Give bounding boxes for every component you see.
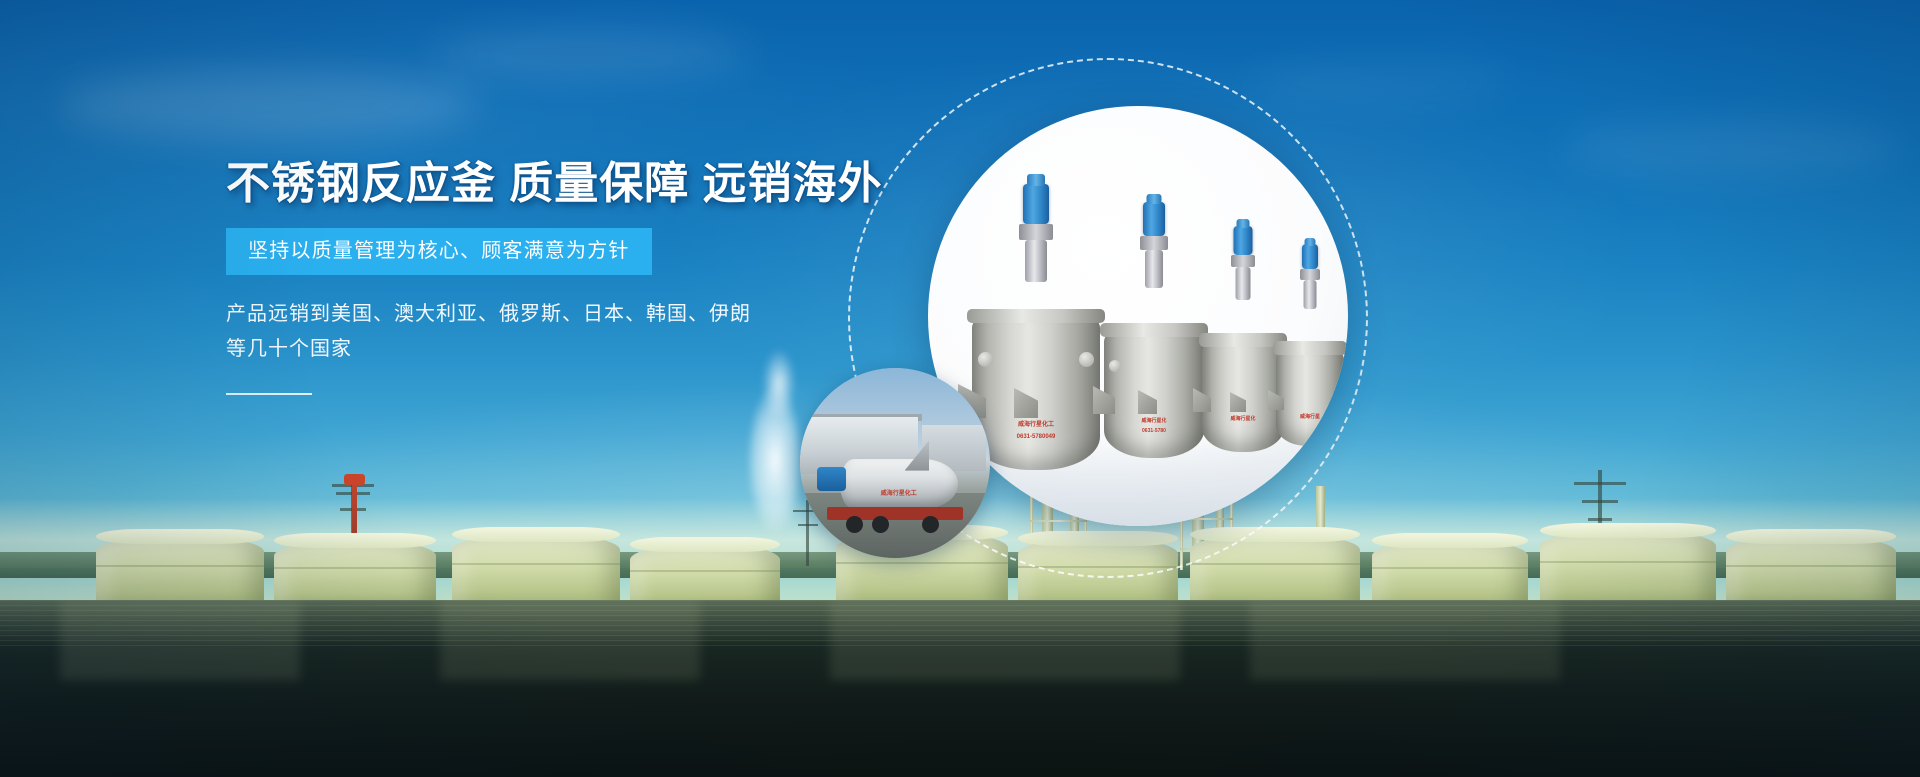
cloud bbox=[1560, 120, 1900, 180]
vessel-bracket bbox=[1268, 390, 1284, 410]
reactor-vessel: 威海行星化 bbox=[1202, 306, 1284, 452]
vessel-port bbox=[1079, 352, 1094, 367]
water-shimmer bbox=[0, 600, 1920, 646]
vessel-label: 威海行星 bbox=[1276, 414, 1344, 420]
banner-description: 产品远销到美国、澳大利亚、俄罗斯、日本、韩国、伊朗 等几十个国家 bbox=[226, 297, 746, 367]
tank-label: 威海行星化工 bbox=[881, 488, 917, 497]
vessel-body: 威海行星化 0631-5780 bbox=[1104, 332, 1204, 458]
motor-icon bbox=[1302, 244, 1318, 269]
hero-banner: 威海行星化工 0631-5780049 威海行星化 0631-5780 bbox=[0, 0, 1920, 777]
divider-rule-icon bbox=[226, 393, 312, 395]
description-line-2: 等几十个国家 bbox=[226, 332, 746, 367]
vessel-lid bbox=[1273, 341, 1346, 355]
vessel-label-line2: 0631-5780 bbox=[1104, 428, 1204, 434]
reactor-vessel: 威海行星化工 0631-5780049 bbox=[972, 290, 1100, 470]
reactor-vessel: 威海行星 bbox=[1276, 314, 1344, 446]
vessel-lid bbox=[967, 309, 1105, 323]
vessel-bracket bbox=[1014, 388, 1038, 418]
vessel-bracket bbox=[1193, 388, 1211, 412]
secondary-photo-circle: 威海行星化工 bbox=[800, 368, 990, 558]
gearbox-icon bbox=[1300, 269, 1320, 280]
vessel-bracket bbox=[1138, 390, 1157, 414]
vessel-bracket bbox=[1230, 392, 1246, 412]
vessel-neck bbox=[1025, 240, 1047, 282]
vessel-bracket bbox=[1093, 386, 1115, 414]
vessel-neck bbox=[1236, 267, 1251, 300]
vessel-port bbox=[1109, 360, 1121, 372]
reactor-vessel: 威海行星化 0631-5780 bbox=[1104, 294, 1204, 458]
vessel-label: 威海行星化 bbox=[1202, 416, 1284, 422]
motor-cap-icon bbox=[1305, 238, 1316, 246]
vessel-body: 威海行星化工 0631-5780049 bbox=[972, 318, 1100, 470]
vessel-neck bbox=[1145, 250, 1163, 288]
trailer-wheel bbox=[846, 516, 863, 533]
subtitle-badge: 坚持以质量管理为核心、顾客满意为方针 bbox=[226, 228, 652, 275]
motor-cap-icon bbox=[1027, 174, 1045, 186]
motor-icon bbox=[1143, 202, 1165, 236]
vessel-label-line2: 0631-5780049 bbox=[972, 434, 1100, 442]
gearbox-icon bbox=[1019, 224, 1053, 240]
motor-icon bbox=[1023, 184, 1049, 224]
vessel-port bbox=[978, 352, 993, 367]
vessel-label-line1: 威海行星化 bbox=[1104, 418, 1204, 424]
cloud bbox=[1250, 60, 1510, 104]
vessel-lid bbox=[1100, 323, 1208, 337]
vessel-label-line1: 威海行星化工 bbox=[972, 422, 1100, 430]
motor-cap-icon bbox=[1237, 219, 1250, 228]
vessel-body: 威海行星 bbox=[1276, 350, 1344, 446]
product-photo-circle: 威海行星化工 0631-5780049 威海行星化 0631-5780 bbox=[928, 106, 1348, 526]
vessel-neck bbox=[1304, 280, 1317, 309]
motor-icon bbox=[1234, 226, 1253, 255]
cloud bbox=[430, 30, 750, 78]
mobile-reactor-tank: 威海行星化工 bbox=[840, 459, 958, 508]
gearbox-icon bbox=[1140, 236, 1168, 250]
cloud bbox=[60, 70, 480, 140]
motor-icon bbox=[817, 467, 846, 492]
trailer-wheel bbox=[922, 516, 939, 533]
description-line-1: 产品远销到美国、澳大利亚、俄罗斯、日本、韩国、伊朗 bbox=[226, 297, 746, 332]
banner-copy: 不锈钢反应釜 质量保障 远销海外 坚持以质量管理为核心、顾客满意为方针 产品远销… bbox=[226, 160, 866, 395]
motor-cap-icon bbox=[1147, 194, 1162, 204]
page-title: 不锈钢反应釜 质量保障 远销海外 bbox=[226, 160, 866, 208]
gearbox-icon bbox=[1231, 255, 1255, 267]
